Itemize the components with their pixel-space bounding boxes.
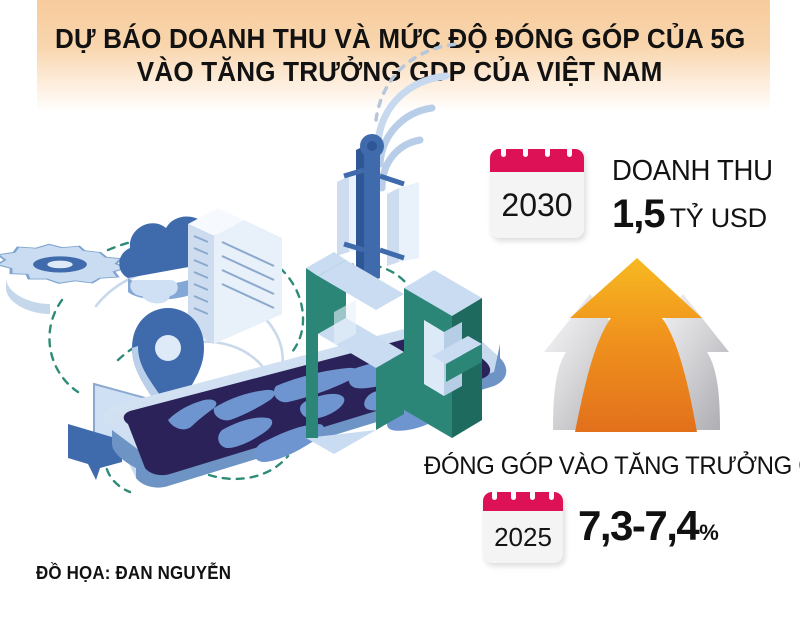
page-title-line-1: DỰ BÁO DOANH THU VÀ MỨC ĐỘ ĐÓNG GÓP CỦA … bbox=[55, 23, 745, 54]
revenue-label: DOANH THU bbox=[612, 155, 773, 188]
cloud-icon bbox=[119, 217, 224, 304]
network-dashed-links bbox=[49, 237, 410, 492]
logo-letter-g bbox=[404, 270, 482, 438]
calendar-header-bar bbox=[490, 149, 584, 172]
chat-bubble-icon bbox=[68, 384, 160, 480]
revenue-value-group: 1,5 TỶ USD bbox=[612, 192, 767, 237]
calendar-ring-tab bbox=[567, 149, 572, 157]
calendar-year-2030: 2030 bbox=[490, 172, 584, 238]
building-icon bbox=[188, 208, 282, 344]
logo-digit-5 bbox=[306, 252, 404, 454]
revenue-unit: TỶ USD bbox=[670, 203, 767, 234]
page-title-line-2: VÀO TĂNG TRƯỞNG GDP CỦA VIỆT NAM bbox=[137, 56, 663, 87]
calendar-icon-2025: 2025 bbox=[483, 492, 563, 563]
calendar-ring-tab bbox=[545, 149, 550, 157]
revenue-value: 1,5 bbox=[612, 192, 665, 237]
world-map-shape bbox=[168, 345, 470, 462]
gdp-label: ĐÓNG GÓP VÀO TĂNG TRƯỞNG GDP bbox=[424, 452, 800, 481]
graphic-credit: ĐỒ HỌA: ĐAN NGUYỄN bbox=[36, 563, 231, 584]
calendar-ring-tab bbox=[523, 149, 528, 157]
left-grey-arrow-icon bbox=[544, 294, 632, 430]
calendar-header-bar bbox=[483, 492, 563, 511]
calendar-ring-tab bbox=[530, 492, 535, 500]
growth-arrows-group bbox=[544, 258, 729, 432]
calendar-ring-tab bbox=[549, 492, 554, 500]
page-title: DỰ BÁO DOANH THU VÀ MỨC ĐỘ ĐÓNG GÓP CỦA … bbox=[0, 0, 800, 110]
right-grey-arrow-icon bbox=[641, 294, 729, 430]
calendar-ring-tab bbox=[511, 492, 516, 500]
gdp-value: 7,3-7,4 bbox=[578, 502, 698, 550]
gear-icon bbox=[0, 237, 150, 314]
gdp-value-group: 7,3-7,4 % bbox=[578, 502, 719, 550]
network-solid-links bbox=[96, 266, 283, 368]
calendar-icon-2030: 2030 bbox=[490, 149, 584, 238]
calendar-year-2025: 2025 bbox=[483, 511, 563, 563]
calendar-ring-tab bbox=[501, 149, 506, 157]
center-orange-arrow-icon bbox=[570, 258, 702, 432]
5g-logo-graphic bbox=[306, 252, 482, 454]
gdp-unit: % bbox=[699, 520, 719, 546]
location-pin-icon bbox=[132, 308, 204, 420]
calendar-ring-tab bbox=[492, 492, 497, 500]
infographic-canvas: DỰ BÁO DOANH THU VÀ MỨC ĐỘ ĐÓNG GÓP CỦA … bbox=[0, 0, 800, 617]
